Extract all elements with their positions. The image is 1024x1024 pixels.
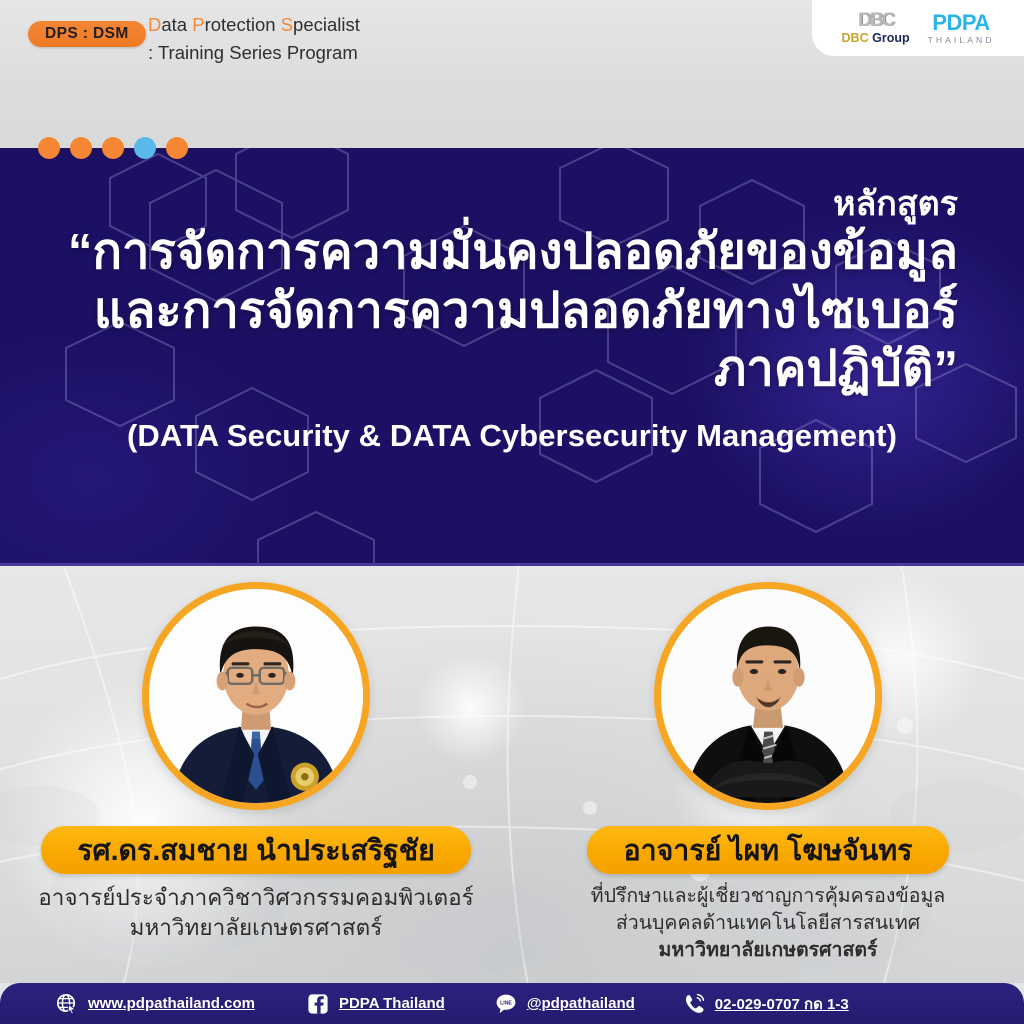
speaker-photo-phatai bbox=[654, 582, 882, 810]
program-subtitle-line2: : Training Series Program bbox=[148, 40, 568, 65]
program-subtitle-line1: Data Protection Specialist bbox=[148, 14, 360, 35]
dps-dsm-badge: DPS : DSM bbox=[28, 21, 146, 47]
dbc-monogram-icon: DBC bbox=[858, 11, 893, 30]
speaker-desc-2: ที่ปรึกษาและผู้เชี่ยวชาญการคุ้มครองข้อมู… bbox=[591, 883, 946, 964]
dot-4 bbox=[134, 137, 156, 159]
dbc-group-label: DBC Group bbox=[842, 32, 910, 45]
title-line-2: และการจัดการความปลอดภัยทางไซเบอร์ bbox=[66, 282, 958, 340]
footer-facebook-link[interactable]: PDPA Thailand bbox=[307, 993, 445, 1015]
speakers-section: รศ.ดร.สมชาย นำประเสริฐชัย อาจารย์ประจำภา… bbox=[0, 566, 1024, 983]
footer-line-link[interactable]: LINE @pdpathailand bbox=[495, 993, 635, 1015]
svg-text:LINE: LINE bbox=[500, 1000, 512, 1006]
footer-phone-link[interactable]: 02-029-0707 กด 1-3 bbox=[683, 992, 849, 1016]
title-kicker: หลักสูตร bbox=[833, 186, 958, 223]
dot-1 bbox=[38, 137, 60, 159]
title-line-3: ภาคปฏิบัติ” bbox=[66, 340, 958, 398]
pdpa-thailand-logo: PDPA THAILAND bbox=[928, 12, 995, 45]
footer-line-label: @pdpathailand bbox=[527, 995, 635, 1012]
program-subtitle: Data Protection Specialist : Training Se… bbox=[148, 12, 568, 65]
speaker-desc-1-line-2: มหาวิทยาลัยเกษตรศาสตร์ bbox=[38, 913, 474, 943]
title-band: หลักสูตร “การจัดการความมั่นคงปลอดภัยของข… bbox=[0, 148, 1024, 566]
footer-contact-bar: www.pdpathailand.com PDPA Thailand LINE … bbox=[0, 983, 1024, 1024]
speaker-desc-2-line-3: มหาวิทยาลัยเกษตรศาสตร์ bbox=[591, 937, 946, 964]
title-english-subtitle: (DATA Security & DATA Cybersecurity Mana… bbox=[66, 418, 958, 454]
speaker-card-1: รศ.ดร.สมชาย นำประเสริฐชัย อาจารย์ประจำภา… bbox=[0, 566, 512, 983]
speaker-name-2: อาจารย์ ไผท โฆษจันทร bbox=[587, 826, 948, 874]
speaker-desc-2-line-2: ส่วนบุคคลด้านเทคโนโลยีสารสนเทศ bbox=[591, 910, 946, 937]
footer-phone-label: 02-029-0707 กด 1-3 bbox=[715, 992, 849, 1016]
speaker-name-1: รศ.ดร.สมชาย นำประเสริฐชัย bbox=[41, 826, 471, 874]
dot-3 bbox=[102, 137, 124, 159]
line-icon: LINE bbox=[495, 993, 517, 1015]
speaker-desc-2-line-1: ที่ปรึกษาและผู้เชี่ยวชาญการคุ้มครองข้อมู… bbox=[591, 883, 946, 910]
phone-icon bbox=[683, 993, 705, 1015]
logo-card: DBC DBC Group PDPA THAILAND bbox=[812, 0, 1024, 56]
speaker-grid: รศ.ดร.สมชาย นำประเสริฐชัย อาจารย์ประจำภา… bbox=[0, 566, 1024, 983]
dbc-group-logo: DBC DBC Group bbox=[842, 11, 910, 45]
speaker-desc-1-line-1: อาจารย์ประจำภาควิชาวิศวกรรมคอมพิวเตอร์ bbox=[38, 883, 474, 913]
pdpa-logo-text: PDPA bbox=[932, 12, 990, 34]
title-text-group: หลักสูตร “การจัดการความมั่นคงปลอดภัยของข… bbox=[0, 148, 1024, 566]
title-line-1: “การจัดการความมั่นคงปลอดภัยของข้อมูล bbox=[66, 223, 958, 281]
globe-icon bbox=[56, 993, 78, 1015]
speaker-desc-1: อาจารย์ประจำภาควิชาวิศวกรรมคอมพิวเตอร์ ม… bbox=[38, 883, 474, 943]
footer-website-label: www.pdpathailand.com bbox=[88, 995, 255, 1012]
poster-canvas: DPS : DSM Data Protection Specialist : T… bbox=[0, 0, 1024, 1024]
speaker-card-2: อาจารย์ ไผท โฆษจันทร ที่ปรึกษาและผู้เชี่… bbox=[512, 566, 1024, 983]
dot-5 bbox=[166, 137, 188, 159]
header-bar: DPS : DSM Data Protection Specialist : T… bbox=[0, 0, 1024, 148]
dot-2 bbox=[70, 137, 92, 159]
decorative-dot-row bbox=[38, 137, 188, 159]
dps-dsm-badge-label: DPS : DSM bbox=[45, 25, 129, 43]
speaker-photo-somchai bbox=[142, 582, 370, 810]
facebook-icon bbox=[307, 993, 329, 1015]
footer-facebook-label: PDPA Thailand bbox=[339, 995, 445, 1012]
footer-website-link[interactable]: www.pdpathailand.com bbox=[56, 993, 255, 1015]
pdpa-logo-subtext: THAILAND bbox=[928, 36, 995, 45]
